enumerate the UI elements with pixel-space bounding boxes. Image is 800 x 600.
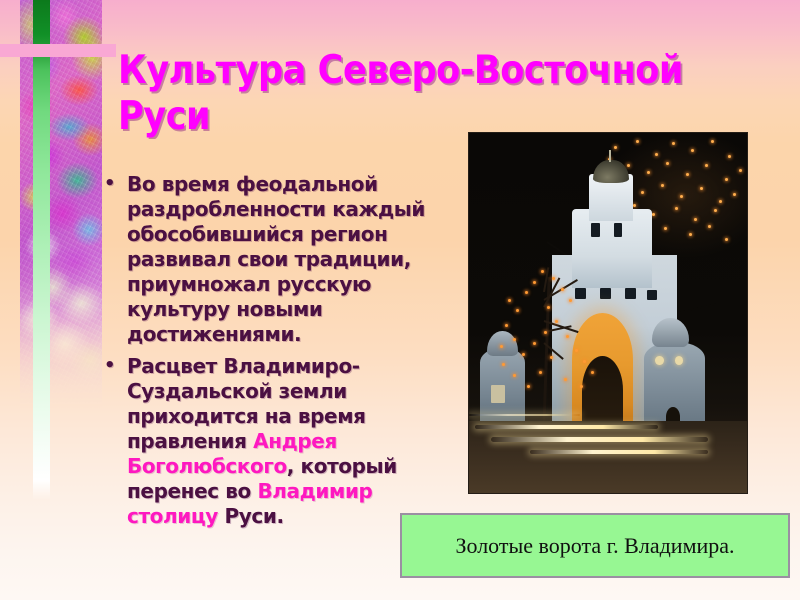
decorative-green-gradient-bar	[33, 0, 50, 500]
window	[614, 223, 622, 237]
image-caption-box: Золотые ворота г. Владимира.	[400, 513, 790, 578]
turret-window	[491, 385, 505, 403]
golden-gates-photo	[468, 132, 748, 494]
window	[647, 290, 657, 301]
dome-cross	[609, 150, 611, 162]
light-trail	[475, 425, 658, 429]
bullet-item-2: Расцвет Владимиро-Суздальской земли прих…	[100, 354, 440, 529]
light-trail	[469, 414, 580, 416]
slide-title: Культура Северо-Восточной Руси	[118, 48, 699, 140]
image-caption-text: Золотые ворота г. Владимира.	[455, 533, 734, 559]
light-trail	[491, 437, 708, 442]
presentation-slide: Культура Северо-Восточной Руси Во время …	[0, 0, 800, 600]
road	[469, 421, 747, 493]
decorative-pink-band	[0, 44, 116, 57]
window	[600, 288, 611, 299]
light-trail	[530, 450, 708, 454]
bullet-text-run: Руси.	[218, 504, 284, 528]
window	[591, 223, 599, 237]
slide-bullet-list: Во время феодальной раздробленности кажд…	[100, 172, 440, 536]
window	[625, 288, 636, 299]
turret-window	[655, 356, 663, 365]
bullet-text: Во время феодальной раздробленности кажд…	[127, 172, 425, 346]
window	[575, 288, 586, 299]
bullet-item-1: Во время феодальной раздробленности кажд…	[100, 172, 440, 347]
